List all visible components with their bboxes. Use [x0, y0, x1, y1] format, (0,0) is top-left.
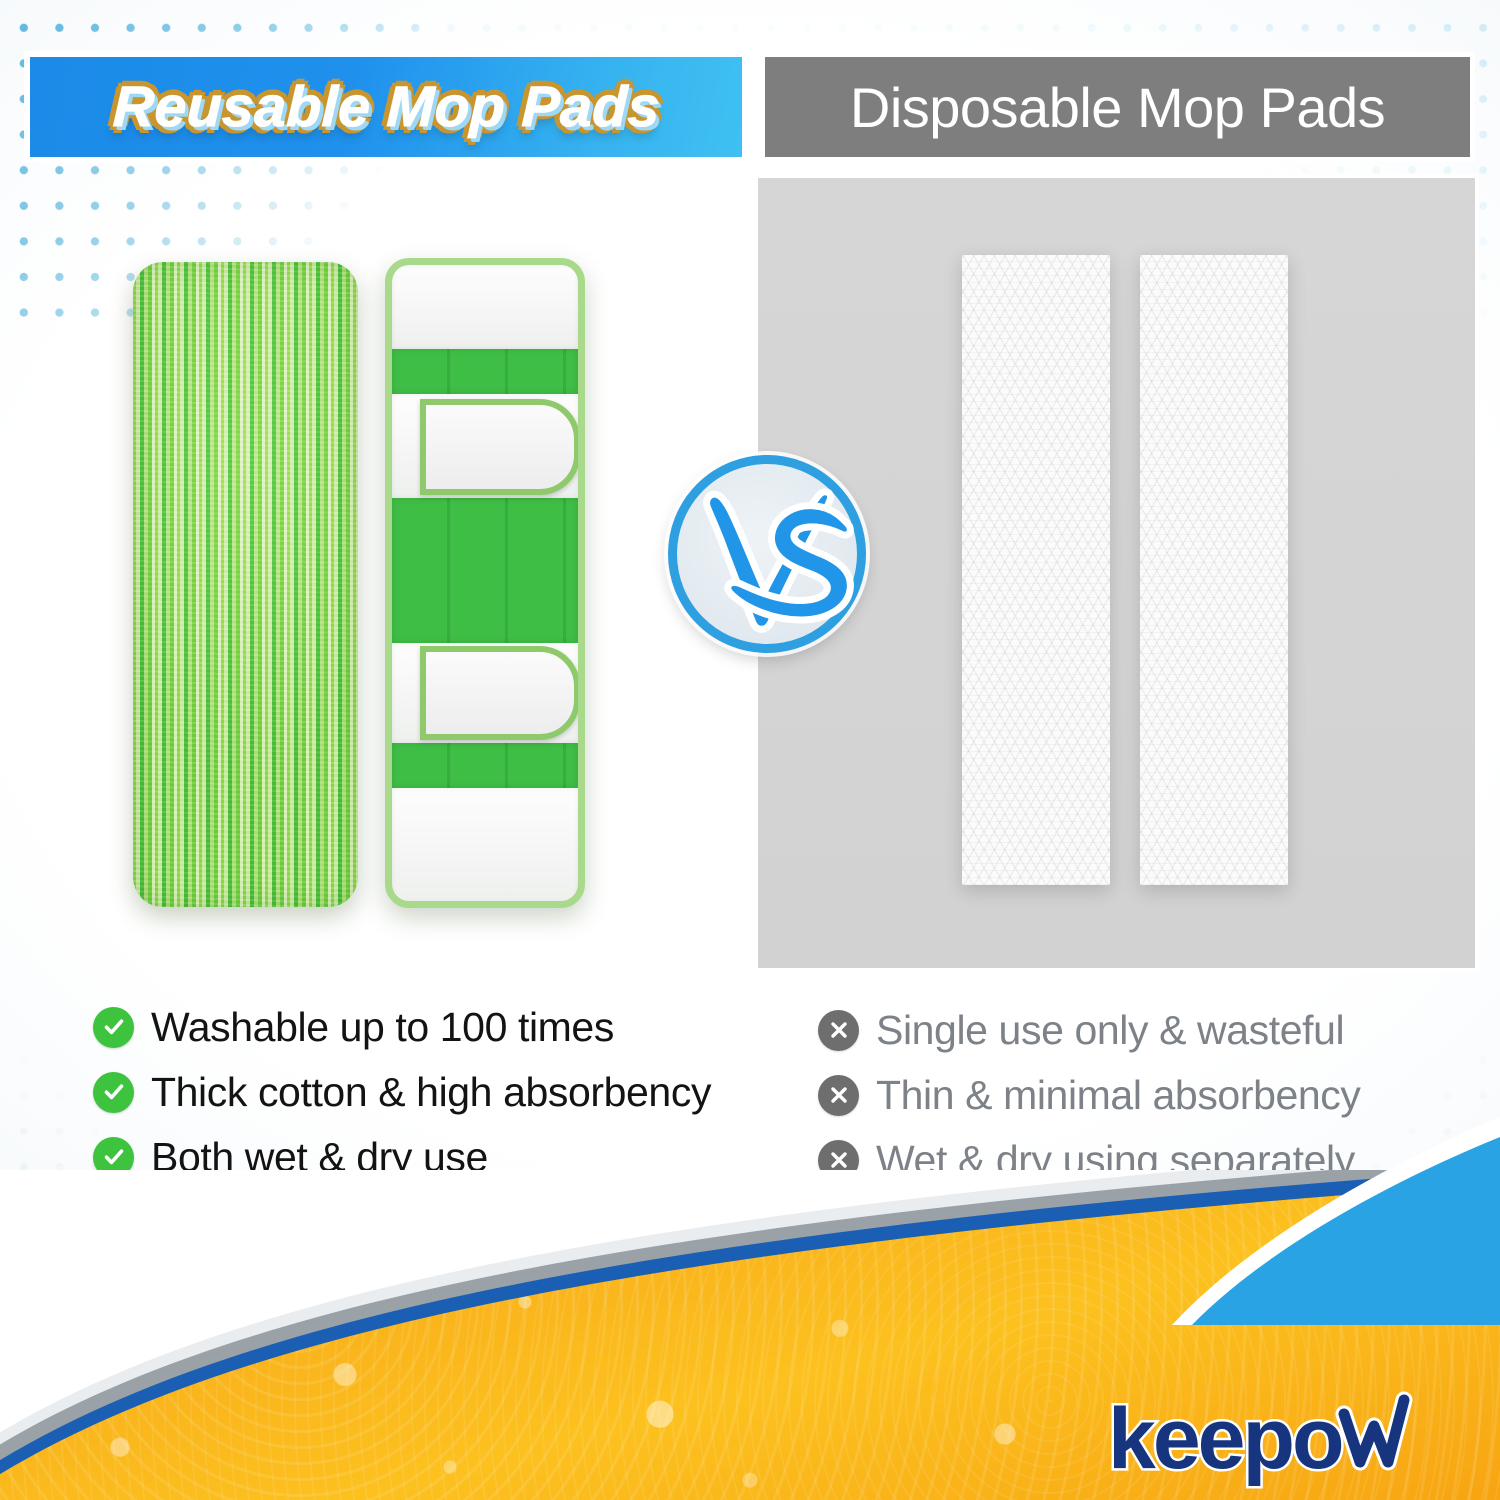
- check-circle-icon: [93, 1007, 134, 1048]
- white-disposable-mop-sheet: [962, 255, 1110, 885]
- pad-pocket-flap-top: [420, 399, 580, 495]
- blue-accent-swoosh: [1080, 1095, 1500, 1325]
- list-item-label: Single use only & wasteful: [876, 1003, 1344, 1057]
- x-circle-icon: [818, 1010, 859, 1051]
- vs-badge: [668, 455, 866, 653]
- white-disposable-mop-sheet: [1140, 255, 1288, 885]
- pad-pocket-flap-bottom: [420, 646, 580, 740]
- pad-band-green: [392, 743, 578, 788]
- pad-band-white: [392, 788, 578, 903]
- infographic-canvas: Reusable Mop Pads Disposable Mop Pads: [0, 0, 1500, 1500]
- list-item: Washable up to 100 times: [93, 1000, 773, 1054]
- list-item-label: Washable up to 100 times: [151, 1000, 614, 1054]
- keepow-logo: keepo: [1108, 1390, 1438, 1490]
- x-circle-icon: [818, 1075, 859, 1116]
- pad-band-green: [392, 498, 578, 643]
- keepow-wordmark: keepo: [1108, 1391, 1342, 1487]
- list-item: Single use only & wasteful: [818, 1003, 1458, 1057]
- vs-letters: [707, 492, 851, 629]
- header-disposable: Disposable Mop Pads: [760, 52, 1475, 162]
- header-disposable-title: Disposable Mop Pads: [850, 75, 1385, 140]
- header-reusable: Reusable Mop Pads: [25, 52, 747, 162]
- pad-band-white: [392, 265, 578, 349]
- check-circle-icon: [93, 1072, 134, 1113]
- list-item-label: Thick cotton & high absorbency: [151, 1065, 711, 1119]
- header-reusable-title: Reusable Mop Pads: [111, 74, 660, 140]
- pad-band-green: [392, 349, 578, 394]
- list-item: Thick cotton & high absorbency: [93, 1065, 773, 1119]
- green-mop-pad-back-with-pockets: [385, 258, 585, 908]
- green-microfiber-mop-pad-front: [133, 262, 358, 907]
